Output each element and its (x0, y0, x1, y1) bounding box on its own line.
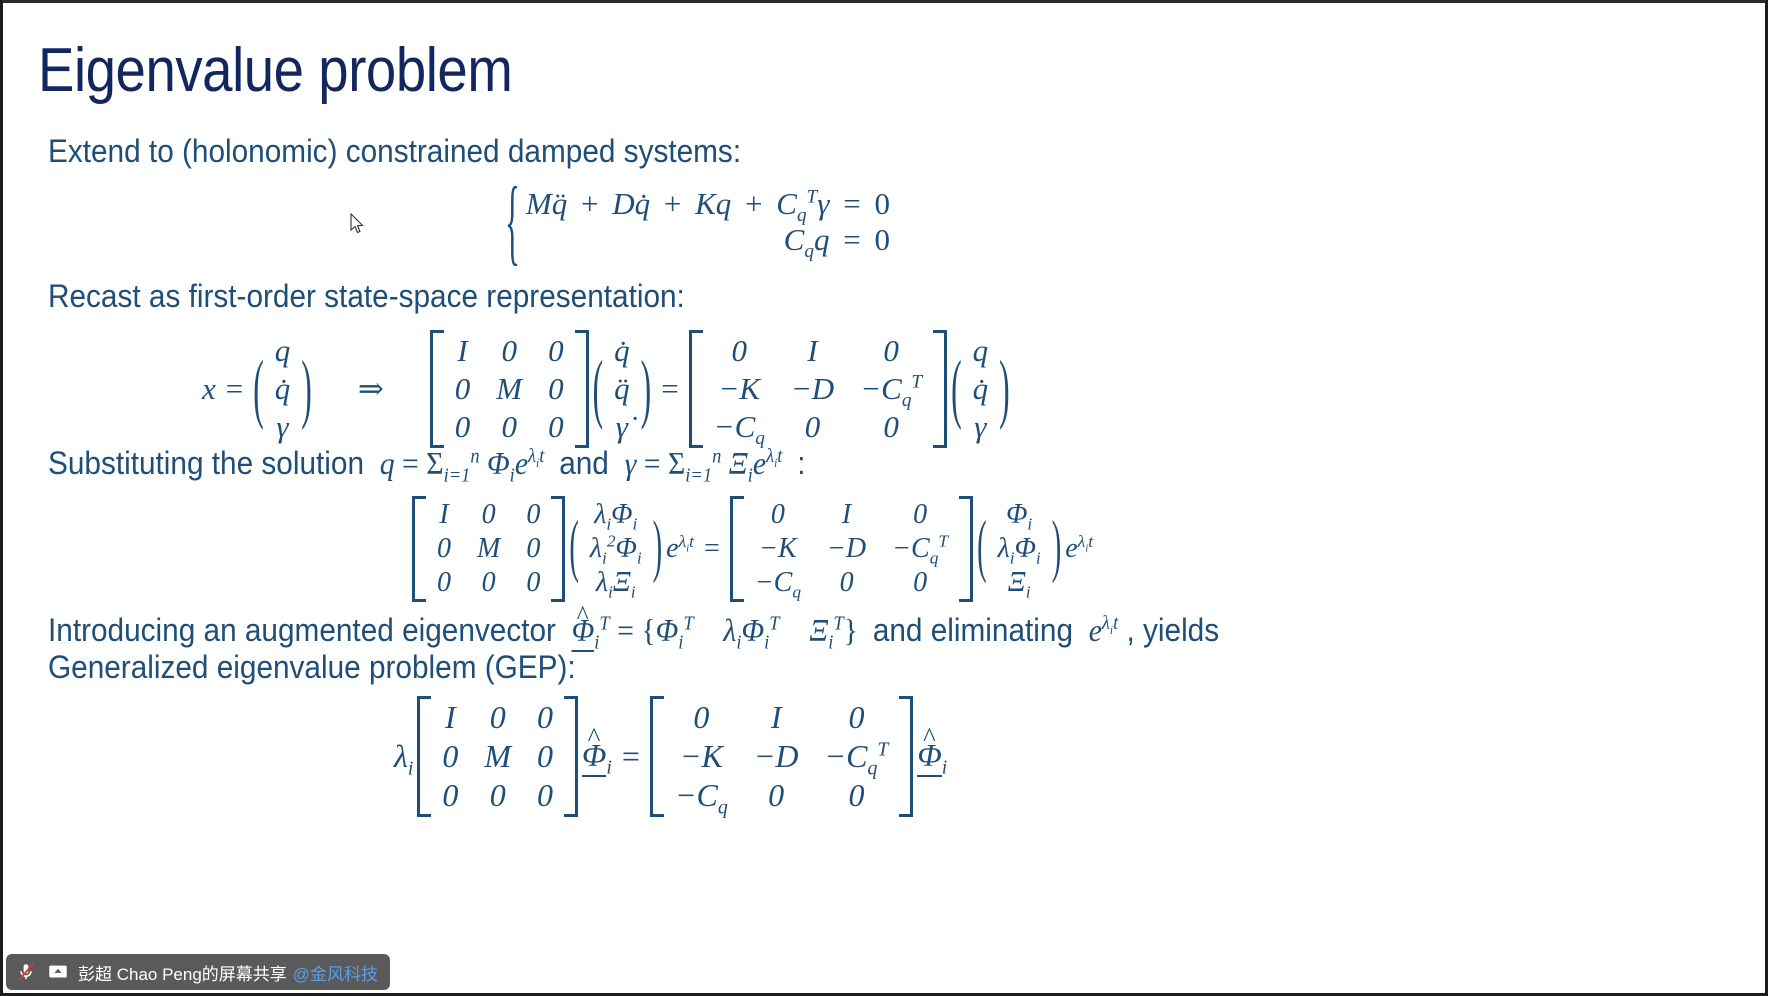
state-vector-label: x (202, 371, 216, 407)
rhs-state-vector: ( q q̇ γ ) (951, 332, 1010, 446)
eq3-lhs-exponential: eλit (666, 533, 694, 565)
window-edge-top (0, 0, 1768, 3)
body-line-recast: Recast as first-order state-space repres… (48, 277, 685, 315)
window-edge-left (0, 0, 3, 996)
eq3-rhs-matrix: 0I0 −K−D−CqT −Cq00 (730, 496, 973, 602)
substituting-label: Substituting the solution (48, 445, 364, 481)
gep-rhs-matrix: 0I0 −K−D−CqT −Cq00 (650, 696, 913, 817)
slide-title: Eigenvalue problem (38, 36, 512, 106)
body-line-extend: Extend to (holonomic) constrained damped… (48, 132, 741, 170)
equation-state-space: x = ( q q̇ γ ) ⇒ I00 0M0 000 ( (200, 330, 1012, 448)
gep-eigenvalue: λi (394, 738, 413, 775)
share-owner-label: 彭超 Chao Peng的屏幕共享 (78, 960, 287, 985)
exponential-term: eλit (1081, 612, 1118, 648)
eq3-lhs-vector: ( λiΦi λi2Φi λiΞi ) (569, 498, 662, 600)
presentation-slide: Eigenvalue problem Extend to (holonomic)… (0, 0, 1768, 996)
screen-share-icon[interactable] (46, 960, 70, 984)
eq3-lhs-matrix: I00 0M0 000 (412, 496, 565, 602)
lhs-derivative-vector: ( q̇ q̈ γ̇ ) (593, 332, 652, 446)
rhs-system-matrix: 0I0 −K−D−CqT −Cq00 (689, 330, 947, 448)
eq3-rhs-vector: ( Φi λiΦi Ξi ) (977, 498, 1061, 600)
body-line-substituting: Substituting the solution q = Σi=1n Φieλ… (48, 444, 806, 482)
eq3-rhs-exponential: eλit (1065, 533, 1093, 565)
gamma-series-expression: γ = Σi=1n Ξieλit (617, 445, 797, 481)
gep-lhs-matrix: I00 0M0 000 (417, 696, 578, 817)
gep-lhs-eigenvector: ^Φi (582, 737, 612, 777)
body-line-gep: Generalized eigenvalue problem (GEP): (48, 648, 576, 686)
implies-arrow: ⇒ (316, 371, 426, 407)
state-vector: ( q q̇ γ ) (253, 332, 312, 446)
screen-share-bar[interactable]: 彭超 Chao Peng的屏幕共享 @金风科技 (6, 954, 390, 990)
colon-label: : (797, 445, 805, 481)
share-company-label: @金风科技 (293, 960, 378, 985)
mouse-pointer-icon (350, 213, 366, 235)
equation-row-constraint: Cqq = 0 (526, 222, 890, 258)
and-label: and (559, 445, 609, 481)
microphone-muted-icon[interactable] (14, 960, 38, 984)
left-brace-glyph: { (505, 166, 520, 278)
introducing-label: Introducing an augmented eigenvector (48, 612, 556, 648)
augmented-eigenvector-expression: ^ΦiT = {ΦiT λiΦiT ΞiT} (564, 612, 873, 648)
equation-gep: λi I00 0M0 000 ^Φi = 0I0 −K−D−CqT −Cq00 (392, 696, 949, 817)
body-line-introducing: Introducing an augmented eigenvector ^Φi… (48, 611, 1219, 652)
eliminating-label: and eliminating (873, 612, 1073, 648)
equation-constrained-system: { Mq̈ + Dq̇ + Kq + CqTγ = 0 Cqq = 0 (505, 186, 890, 258)
gep-rhs-eigenvector: ^Φi (917, 737, 947, 777)
equation-row-motion: Mq̈ + Dq̇ + Kq + CqTγ = 0 (526, 186, 890, 222)
lhs-mass-matrix: I00 0M0 000 (430, 330, 589, 448)
yields-label: , yields (1126, 612, 1219, 648)
q-series-expression: q = Σi=1n Φieλit (372, 445, 559, 481)
equation-substituted: I00 0M0 000 ( λiΦi λi2Φi λiΞi ) eλit = 0… (410, 496, 1095, 602)
